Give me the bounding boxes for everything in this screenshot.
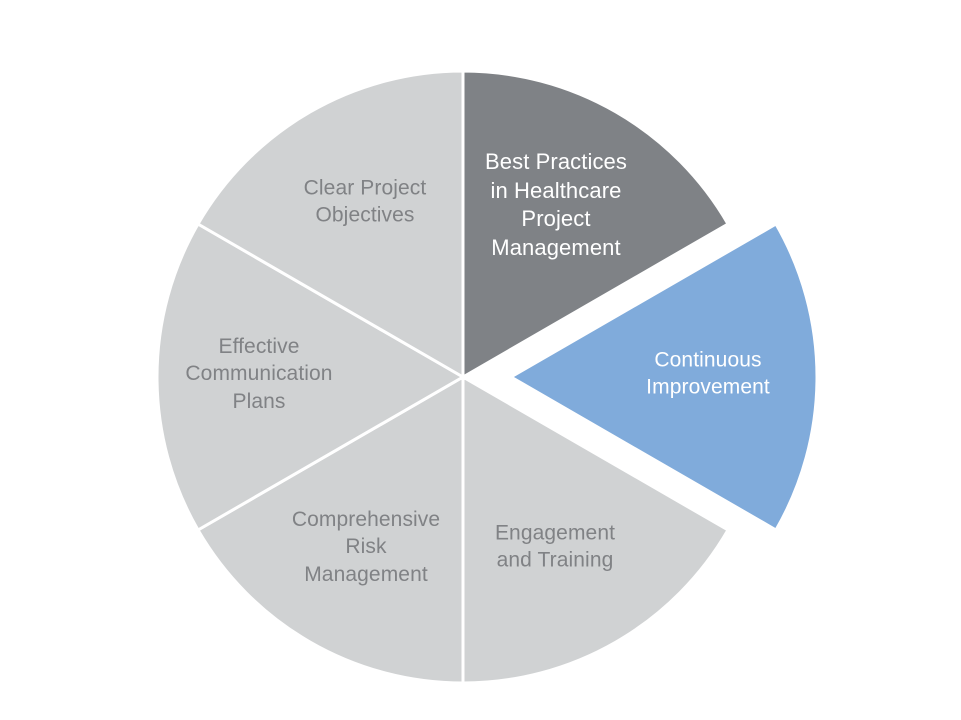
- pie-slice-group: [157, 71, 817, 683]
- pie-chart-canvas: Best Practices in Healthcare Project Man…: [0, 0, 961, 720]
- pie-chart-svg: [0, 0, 961, 720]
